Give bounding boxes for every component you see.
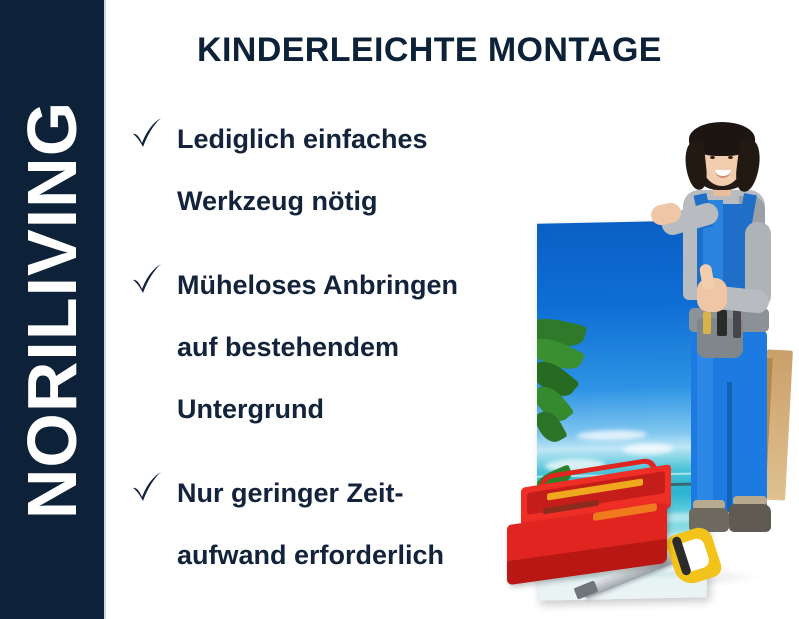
product-photo [495,112,799,619]
list-item: Lediglich einfaches Werkzeug nötig [130,108,510,232]
benefit-text-line: auf bestehendem [177,316,510,378]
checkmark-icon [130,116,164,150]
belt-tool [717,310,727,336]
benefit-text-line: Werkzeug nötig [177,170,510,232]
benefit-text-line: Lediglich einfaches [177,108,510,170]
list-item: Müheloses Anbringen auf bestehendem Unte… [130,254,510,440]
cloud [577,429,647,440]
page-title: KINDERLEICHTE MONTAGE [197,31,662,70]
trouser-seam [727,382,732,512]
work-boot [729,504,771,532]
checkmark-icon [130,470,164,504]
brand-sidebar: NORILIVING [0,0,106,619]
red-toolbox [503,464,683,582]
promo-banner: NORILIVING KINDERLEICHTE MONTAGE Ledigli… [0,0,799,619]
checkmark-icon [130,262,164,296]
trousers-highlight [697,334,713,504]
belt-tool [733,308,741,338]
benefit-text-line: Müheloses Anbringen [177,254,510,316]
benefit-text-line: Nur geringer Zeit- [177,462,510,524]
belt-tool [703,312,711,334]
eye [710,156,715,159]
benefit-text-line: Untergrund [177,378,510,440]
list-item: Nur geringer Zeit- aufwand erforderlich [130,462,510,586]
benefit-list: Lediglich einfaches Werkzeug nötig Mühel… [130,108,510,608]
eye [728,156,733,159]
brand-name: NORILIVING [12,100,92,518]
benefit-text-line: aufwand erforderlich [177,524,510,586]
